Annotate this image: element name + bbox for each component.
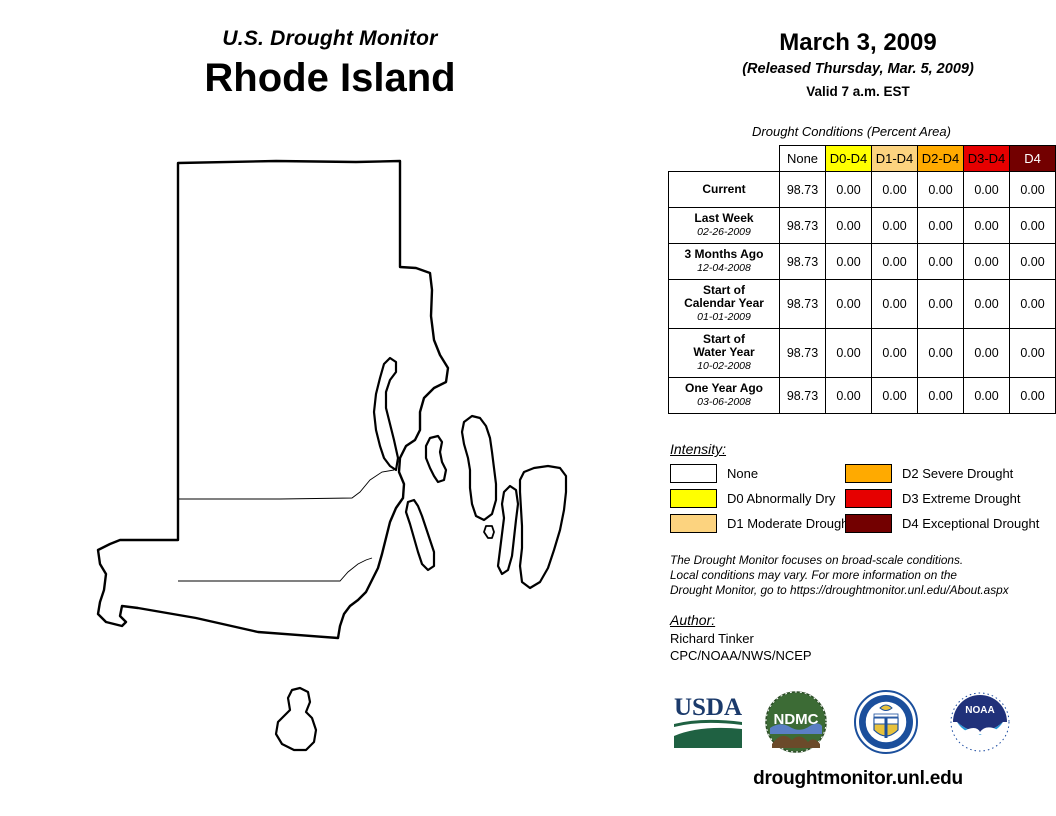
- cell-3months-d1d4: 0.00: [872, 244, 918, 280]
- column-header-none: None: [780, 146, 826, 172]
- table-row: Current 98.73 0.00 0.00 0.00 0.00 0.00: [669, 172, 1056, 208]
- swatch-d0-icon: [670, 489, 717, 508]
- noaa-wordmark: NOAA: [965, 705, 994, 716]
- cell-calyear-d2d4: 0.00: [918, 280, 964, 329]
- ndmc-logo: NDMC: [762, 688, 830, 761]
- cell-lastweek-d4: 0.00: [1010, 208, 1056, 244]
- row-title: Start of Calendar Year: [675, 284, 773, 310]
- row-date: 01-01-2009: [675, 311, 773, 324]
- row-label-one-year-ago: One Year Ago 03-06-2008: [669, 378, 780, 414]
- usda-wordmark: USDA: [674, 694, 742, 721]
- cell-calyear-d3d4: 0.00: [964, 280, 1010, 329]
- cell-current-none: 98.73: [780, 172, 826, 208]
- legend-grid: None D2 Severe Drought D0 Abnormally Dry…: [670, 464, 1050, 533]
- info-panel: March 3, 2009 (Released Thursday, Mar. 5…: [660, 0, 1056, 816]
- column-header-d2-d4: D2-D4: [918, 146, 964, 172]
- cell-lastweek-d0d4: 0.00: [826, 208, 872, 244]
- disclaimer-line-3: Drought Monitor, go to https://droughtmo…: [670, 583, 1055, 598]
- table-row: Start of Water Year 10-02-2008 98.73 0.0…: [669, 329, 1056, 378]
- cell-oneyear-d2d4: 0.00: [918, 378, 964, 414]
- usda-logo: USDA: [672, 688, 744, 755]
- conanicut-island: [406, 500, 434, 570]
- column-header-d0-d4: D0-D4: [826, 146, 872, 172]
- map-title-block: U.S. Drought Monitor Rhode Island: [0, 26, 660, 102]
- cell-lastweek-none: 98.73: [780, 208, 826, 244]
- ndmc-logo-svg: NDMC: [762, 688, 830, 756]
- row-date: 02-26-2009: [675, 226, 773, 239]
- legend-item-d2: D2 Severe Drought: [845, 464, 1050, 483]
- legend-label-d1: D1 Moderate Drought: [727, 515, 852, 532]
- row-label-current: Current: [669, 172, 780, 208]
- cell-wateryear-d0d4: 0.00: [826, 329, 872, 378]
- cell-oneyear-d4: 0.00: [1010, 378, 1056, 414]
- swatch-d1-icon: [670, 514, 717, 533]
- cell-3months-d0d4: 0.00: [826, 244, 872, 280]
- row-label-start-water-year: Start of Water Year 10-02-2008: [669, 329, 780, 378]
- cell-wateryear-none: 98.73: [780, 329, 826, 378]
- cell-wateryear-d4: 0.00: [1010, 329, 1056, 378]
- row-title: Current: [675, 183, 773, 196]
- legend-label-d0: D0 Abnormally Dry: [727, 490, 835, 507]
- prudence-island: [426, 436, 446, 482]
- cell-lastweek-d3d4: 0.00: [964, 208, 1010, 244]
- cell-3months-d4: 0.00: [1010, 244, 1056, 280]
- column-header-d3-d4: D3-D4: [964, 146, 1010, 172]
- valid-date: March 3, 2009: [660, 28, 1056, 57]
- legend-label-d2: D2 Severe Drought: [902, 465, 1013, 482]
- commerce-seal: [852, 688, 920, 761]
- usda-field: [674, 728, 742, 748]
- cell-wateryear-d3d4: 0.00: [964, 329, 1010, 378]
- disclaimer-line-1: The Drought Monitor focuses on broad-sca…: [670, 553, 1055, 568]
- row-date: 10-02-2008: [675, 360, 773, 373]
- row-title: One Year Ago: [675, 382, 773, 395]
- drought-conditions-table: None D0-D4 D1-D4 D2-D4 D3-D4 D4 Current …: [668, 145, 1056, 414]
- legend-item-none: None: [670, 464, 845, 483]
- table-row: 3 Months Ago 12-04-2008 98.73 0.00 0.00 …: [669, 244, 1056, 280]
- cell-calyear-none: 98.73: [780, 280, 826, 329]
- table-header: None D0-D4 D1-D4 D2-D4 D3-D4 D4: [669, 146, 1056, 172]
- legend-item-d4: D4 Exceptional Drought: [845, 514, 1050, 533]
- commerce-seal-svg: [852, 688, 920, 756]
- row-label-3-months-ago: 3 Months Ago 12-04-2008: [669, 244, 780, 280]
- block-island: [276, 688, 316, 750]
- cell-3months-none: 98.73: [780, 244, 826, 280]
- cell-calyear-d0d4: 0.00: [826, 280, 872, 329]
- cell-current-d0d4: 0.00: [826, 172, 872, 208]
- cell-calyear-d1d4: 0.00: [872, 280, 918, 329]
- bay-islet: [484, 526, 494, 538]
- column-header-d4: D4: [1010, 146, 1056, 172]
- cell-3months-d3d4: 0.00: [964, 244, 1010, 280]
- date-block: March 3, 2009 (Released Thursday, Mar. 5…: [660, 28, 1056, 101]
- legend-item-d3: D3 Extreme Drought: [845, 489, 1050, 508]
- cell-3months-d2d4: 0.00: [918, 244, 964, 280]
- noaa-logo: NOAA: [946, 688, 1014, 761]
- swatch-d3-icon: [845, 489, 892, 508]
- author-heading: Author:: [670, 611, 1050, 630]
- cell-current-d3d4: 0.00: [964, 172, 1010, 208]
- cell-lastweek-d2d4: 0.00: [918, 208, 964, 244]
- valid-time: Valid 7 a.m. EST: [660, 82, 1056, 101]
- cell-current-d2d4: 0.00: [918, 172, 964, 208]
- rhode-island-map[interactable]: [0, 140, 660, 800]
- state-title: Rhode Island: [0, 54, 660, 102]
- cell-current-d4: 0.00: [1010, 172, 1056, 208]
- cell-wateryear-d1d4: 0.00: [872, 329, 918, 378]
- legend-label-d3: D3 Extreme Drought: [902, 490, 1021, 507]
- row-date: 12-04-2008: [675, 262, 773, 275]
- aquidneck-island: [462, 416, 496, 520]
- row-title: 3 Months Ago: [675, 248, 773, 261]
- table-row: Start of Calendar Year 01-01-2009 98.73 …: [669, 280, 1056, 329]
- legend-label-d4: D4 Exceptional Drought: [902, 515, 1039, 532]
- table-header-row: None D0-D4 D1-D4 D2-D4 D3-D4 D4: [669, 146, 1056, 172]
- table-row: Last Week 02-26-2009 98.73 0.00 0.00 0.0…: [669, 208, 1056, 244]
- disclaimer-text: The Drought Monitor focuses on broad-sca…: [670, 553, 1055, 598]
- table-row: One Year Ago 03-06-2008 98.73 0.00 0.00 …: [669, 378, 1056, 414]
- seal-bar: [874, 714, 898, 717]
- cell-oneyear-d1d4: 0.00: [872, 378, 918, 414]
- logo-row: USDA NDMC: [660, 688, 1056, 768]
- author-name: Richard Tinker: [670, 630, 1050, 647]
- cell-current-d1d4: 0.00: [872, 172, 918, 208]
- table-corner-blank: [669, 146, 780, 172]
- cell-oneyear-d3d4: 0.00: [964, 378, 1010, 414]
- row-date: 03-06-2008: [675, 396, 773, 409]
- swatch-none-icon: [670, 464, 717, 483]
- usda-logo-svg: USDA: [672, 688, 744, 750]
- released-date: (Released Thursday, Mar. 5, 2009): [660, 59, 1056, 79]
- cell-calyear-d4: 0.00: [1010, 280, 1056, 329]
- swatch-d2-icon: [845, 464, 892, 483]
- tiverton-neck: [498, 486, 518, 574]
- intensity-legend: Intensity: None D2 Severe Drought D0 Abn…: [670, 440, 1050, 533]
- author-affiliation: CPC/NOAA/NWS/NCEP: [670, 647, 1050, 664]
- row-title: Last Week: [675, 212, 773, 225]
- drought-monitor-supertitle: U.S. Drought Monitor: [0, 26, 660, 52]
- row-title: Start of Water Year: [675, 333, 773, 359]
- map-panel: U.S. Drought Monitor Rhode Island: [0, 0, 660, 816]
- legend-label-none: None: [727, 465, 758, 482]
- row-label-last-week: Last Week 02-26-2009: [669, 208, 780, 244]
- cell-lastweek-d1d4: 0.00: [872, 208, 918, 244]
- rhode-island-map-svg: [0, 140, 660, 800]
- cell-wateryear-d2d4: 0.00: [918, 329, 964, 378]
- author-block: Author: Richard Tinker CPC/NOAA/NWS/NCEP: [670, 611, 1050, 664]
- seal-pale: [885, 718, 888, 738]
- row-label-start-calendar-year: Start of Calendar Year 01-01-2009: [669, 280, 780, 329]
- legend-item-d1: D1 Moderate Drought: [670, 514, 845, 533]
- intensity-heading: Intensity:: [670, 440, 1050, 458]
- disclaimer-line-2: Local conditions may vary. For more info…: [670, 568, 1055, 583]
- cell-oneyear-d0d4: 0.00: [826, 378, 872, 414]
- cell-oneyear-none: 98.73: [780, 378, 826, 414]
- table-body: Current 98.73 0.00 0.00 0.00 0.00 0.00 L…: [669, 172, 1056, 414]
- state-boundary-path: [98, 161, 448, 638]
- ndmc-wordmark: NDMC: [774, 711, 819, 728]
- sakonnet-peninsula: [520, 466, 566, 588]
- legend-item-d0: D0 Abnormally Dry: [670, 489, 845, 508]
- site-url[interactable]: droughtmonitor.unl.edu: [660, 768, 1056, 790]
- swatch-d4-icon: [845, 514, 892, 533]
- table-caption: Drought Conditions (Percent Area): [660, 124, 1043, 140]
- noaa-logo-svg: NOAA: [946, 688, 1014, 756]
- column-header-d1-d4: D1-D4: [872, 146, 918, 172]
